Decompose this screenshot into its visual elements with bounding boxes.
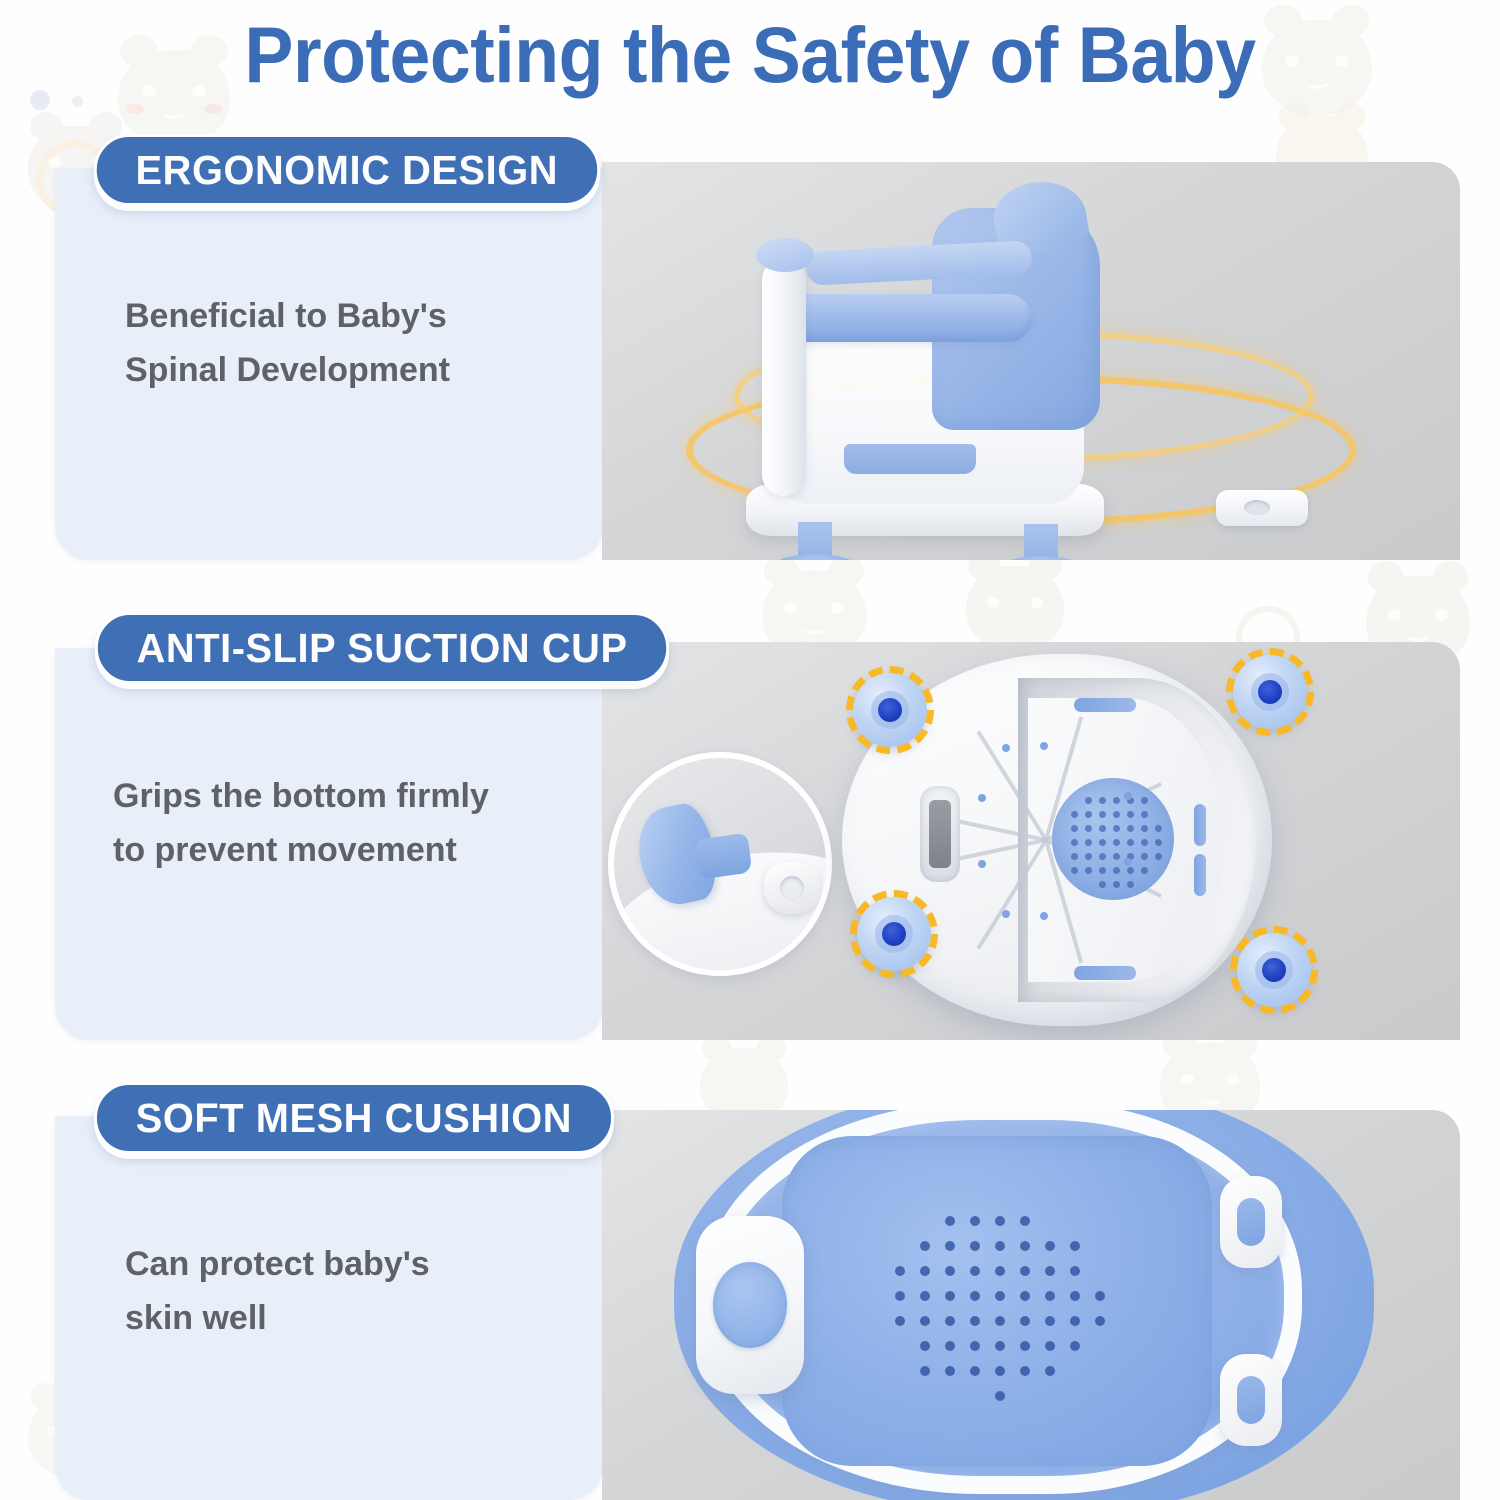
watermark-dot-2 (72, 96, 83, 107)
drain-hole (970, 1366, 980, 1376)
drain-hole (920, 1366, 930, 1376)
feature-body-1: Beneficial to Baby's Spinal Development (125, 290, 555, 397)
drain-hole (1141, 867, 1148, 874)
cushion-hinge-lower-right (1220, 1354, 1282, 1446)
suction-cup-socket (764, 862, 820, 914)
drain-hole (995, 1216, 1005, 1226)
orange-dashed-highlight-ring (846, 666, 934, 754)
product-mesh-cushion (674, 1110, 1380, 1500)
drain-hole (1141, 797, 1148, 804)
drain-hole (1020, 1291, 1030, 1301)
drain-hole (945, 1216, 955, 1226)
drain-hole (1085, 853, 1092, 860)
drain-hole (970, 1291, 980, 1301)
drain-hole (1045, 1266, 1055, 1276)
seat-support-post (762, 258, 806, 496)
drain-hole (920, 1266, 930, 1276)
feature-badge-2: ANTI-SLIP SUCTION CUP (95, 612, 669, 684)
seat-latch-mechanism (920, 786, 960, 882)
drain-hole (1113, 867, 1120, 874)
feature-text-panel-3: Can protect baby's skin well (55, 1116, 603, 1500)
drain-hole (920, 1241, 930, 1251)
seat-clip-bottom (1074, 966, 1136, 980)
seat-clip-right-upper (1194, 804, 1206, 846)
drain-hole (1113, 881, 1120, 888)
suction-cup-highlight-top-right (1226, 648, 1314, 736)
seat-mount-dot-1 (1002, 744, 1010, 752)
drain-hole (1141, 839, 1148, 846)
drain-hole (1071, 811, 1078, 818)
drain-hole (1113, 811, 1120, 818)
seat-mesh-strip (844, 444, 976, 474)
drain-hole (1113, 825, 1120, 832)
page-title: Protecting the Safety of Baby (53, 12, 1448, 97)
drain-hole (1099, 797, 1106, 804)
drain-hole (1085, 797, 1092, 804)
drain-hole (970, 1216, 980, 1226)
drain-hole (1141, 811, 1148, 818)
feature-badge-3: SOFT MESH CUSHION (94, 1082, 614, 1154)
feature-photo-1 (602, 162, 1460, 560)
drain-hole (1071, 839, 1078, 846)
cushion-seat-surface (782, 1136, 1212, 1466)
drain-hole (920, 1341, 930, 1351)
drain-hole (995, 1316, 1005, 1326)
drain-hole (1070, 1241, 1080, 1251)
drain-hole (1071, 853, 1078, 860)
drain-hole (970, 1241, 980, 1251)
product-bath-seat-side (694, 172, 1334, 552)
drain-hole (995, 1291, 1005, 1301)
drain-hole (945, 1366, 955, 1376)
drain-hole (1045, 1366, 1055, 1376)
drain-hole (1127, 825, 1134, 832)
drain-hole (1099, 853, 1106, 860)
drain-hole (1113, 839, 1120, 846)
drain-hole (1085, 839, 1092, 846)
watermark-frog-3 (966, 566, 1064, 652)
seat-mount-dot-5 (1002, 910, 1010, 918)
drain-hole (1127, 839, 1134, 846)
drain-hole (1071, 825, 1078, 832)
drain-hole (1155, 839, 1162, 846)
seat-arm-rail (780, 294, 1032, 342)
drain-hole (1099, 867, 1106, 874)
seat-clip-top (1074, 698, 1136, 712)
drain-hole (895, 1291, 905, 1301)
feature-photo-2 (602, 642, 1460, 1040)
drain-hole (1085, 867, 1092, 874)
drain-hole (970, 1341, 980, 1351)
drain-hole (945, 1316, 955, 1326)
drain-hole (1099, 839, 1106, 846)
seat-drain-mesh-disc (1052, 778, 1174, 900)
drain-hole (895, 1266, 905, 1276)
seat-clip-right-lower (1194, 854, 1206, 896)
feature-photo-3 (602, 1110, 1460, 1500)
drain-hole (945, 1341, 955, 1351)
drain-hole (1155, 825, 1162, 832)
drain-hole (1127, 811, 1134, 818)
drain-hole (1085, 825, 1092, 832)
feature-badge-1: ERGONOMIC DESIGN (94, 134, 600, 206)
drain-hole (1045, 1341, 1055, 1351)
suction-foot-icon-left (798, 522, 832, 560)
drain-hole (1020, 1216, 1030, 1226)
watermark-dot-1 (30, 90, 50, 110)
suction-cup-highlight-bottom-left (850, 890, 938, 978)
suction-foot-icon-right (1024, 524, 1058, 560)
drain-hole (1020, 1241, 1030, 1251)
suction-cup-stem (695, 833, 752, 880)
orange-dashed-highlight-ring (850, 890, 938, 978)
drain-hole (995, 1391, 1005, 1401)
seat-mount-dot-2 (1040, 742, 1048, 750)
feature-text-panel-1: Beneficial to Baby's Spinal Development (55, 168, 603, 560)
drain-hole (1085, 811, 1092, 818)
drain-hole (1127, 881, 1134, 888)
drain-hole (1070, 1291, 1080, 1301)
drain-hole (1045, 1291, 1055, 1301)
drain-hole (1020, 1341, 1030, 1351)
drain-hole (995, 1241, 1005, 1251)
infographic-page: Protecting the Safety of Baby Beneficial… (0, 0, 1500, 1500)
drain-hole (1020, 1316, 1030, 1326)
drain-hole (1070, 1266, 1080, 1276)
drain-hole (1127, 867, 1134, 874)
drain-hole (1099, 811, 1106, 818)
drain-hole (1020, 1266, 1030, 1276)
drain-hole (995, 1266, 1005, 1276)
orange-dashed-highlight-ring (1226, 648, 1314, 736)
suction-cup-highlight-top-left (846, 666, 934, 754)
drain-hole (1099, 825, 1106, 832)
drain-hole (995, 1366, 1005, 1376)
drain-hole (970, 1316, 980, 1326)
drain-hole (1045, 1241, 1055, 1251)
suction-cup-detail-inset (608, 752, 832, 976)
drain-hole (1095, 1316, 1105, 1326)
feature-body-3: Can protect baby's skin well (125, 1238, 555, 1345)
suction-cup-highlight-bottom-right (1230, 926, 1318, 1014)
drain-hole (1099, 881, 1106, 888)
seat-mount-dot-6 (1040, 912, 1048, 920)
drain-hole (1070, 1316, 1080, 1326)
drain-hole (920, 1316, 930, 1326)
drain-hole (1141, 825, 1148, 832)
cushion-hinge-upper-right (1220, 1176, 1282, 1268)
seat-post-cap (756, 238, 814, 272)
drain-hole (1155, 853, 1162, 860)
drain-hole (1113, 797, 1120, 804)
drain-hole (920, 1291, 930, 1301)
feature-body-2: Grips the bottom firmly to prevent movem… (113, 770, 553, 877)
drain-hole (945, 1266, 955, 1276)
drain-hole (995, 1341, 1005, 1351)
drain-hole (945, 1241, 955, 1251)
seat-mount-dot-3 (978, 794, 986, 802)
feature-text-panel-2: Grips the bottom firmly to prevent movem… (55, 648, 603, 1040)
drain-hole (1071, 867, 1078, 874)
cushion-adjust-knob (696, 1216, 804, 1394)
drain-hole (1113, 853, 1120, 860)
orange-dashed-highlight-ring (1230, 926, 1318, 1014)
drain-hole (1045, 1316, 1055, 1326)
seat-mount-dot-8 (1124, 858, 1132, 866)
drain-hole (895, 1316, 905, 1326)
drain-hole (1020, 1366, 1030, 1376)
seat-mount-dot-4 (978, 860, 986, 868)
seat-drain-plug (1216, 490, 1308, 526)
drain-hole (970, 1266, 980, 1276)
drain-hole (945, 1291, 955, 1301)
drain-hole (1141, 853, 1148, 860)
drain-hole (1070, 1341, 1080, 1351)
drain-hole (1095, 1291, 1105, 1301)
seat-mount-dot-7 (1124, 792, 1132, 800)
